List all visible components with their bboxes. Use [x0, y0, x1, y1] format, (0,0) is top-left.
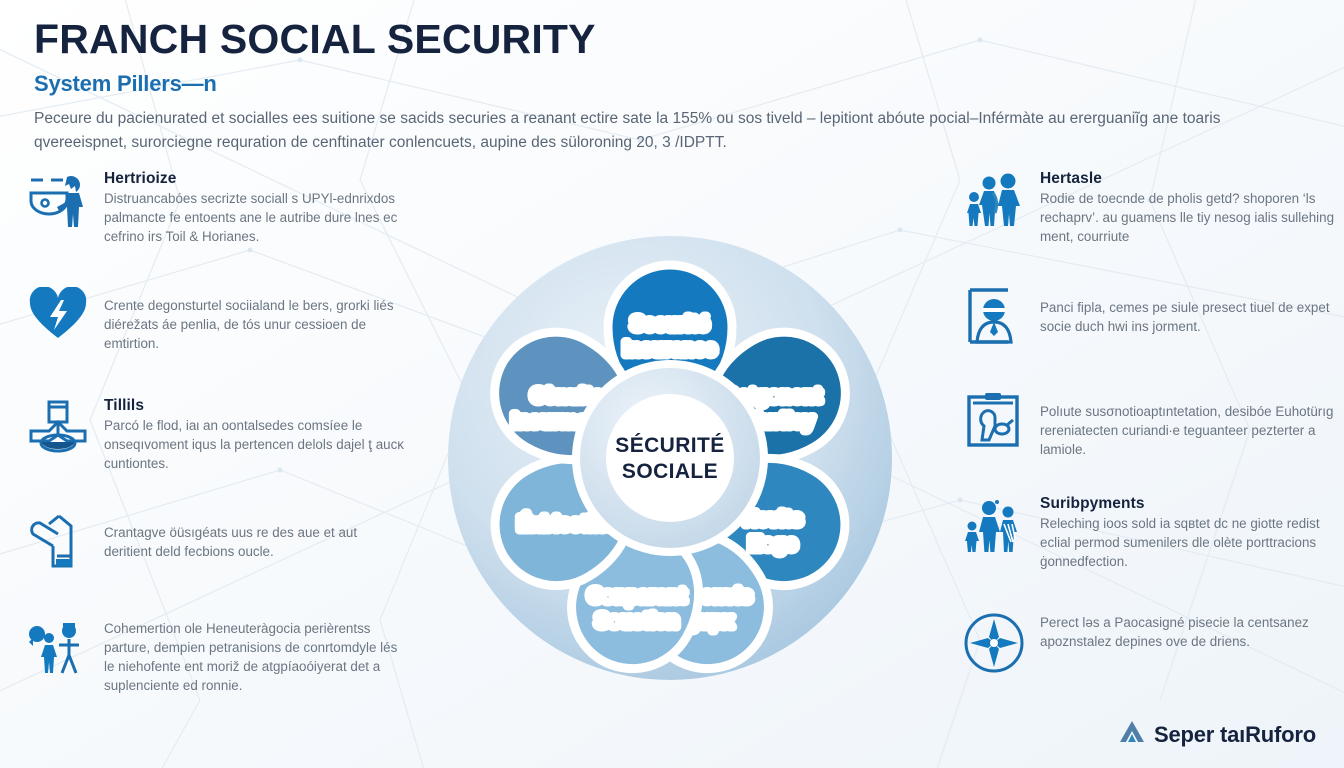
- petal-label: Eoge: [749, 534, 797, 555]
- funnel-valve-icon: [26, 395, 90, 459]
- people-support-icon: [26, 617, 90, 681]
- feature-item: Perect ləs a Paocasigné pisecie la cents…: [962, 611, 1344, 675]
- petal-label: Insurance: [624, 339, 716, 360]
- brand-logo: Seper taıRuforo: [1118, 719, 1316, 750]
- feature-item: Hertasle Rodie de toecnde de pholis ɡetd…: [962, 168, 1344, 246]
- page-header: FRANCH SOCIAL SECURITY System Pillers—n …: [34, 18, 1314, 155]
- petal-label: Securité: [631, 314, 708, 335]
- brand-name: Seper taıRuforo: [1154, 722, 1316, 748]
- feature-body: Crente degonsturtel sociialand le bers, …: [104, 296, 408, 353]
- person-washbasin-icon: [26, 168, 90, 232]
- compass-cross-icon: [962, 611, 1026, 675]
- clipboard-hand-icon: [962, 388, 1026, 452]
- feature-body: Releching ioos sold ia sqвtet dc ne giot…: [1040, 514, 1344, 571]
- feature-body: Panci fipla, cemes pe siule presect tiue…: [1040, 298, 1344, 336]
- feature-item: Hertrioize Distruancabóes secrizte socia…: [26, 168, 408, 246]
- intro-paragraph: Peceure du pacienurated et socialles ees…: [34, 107, 1289, 155]
- feature-title: Hertasle: [1040, 170, 1344, 188]
- feature-body: Cohemertion ole Heneuteràgocia perièrent…: [104, 619, 408, 695]
- page-subtitle: System Pillers—n: [34, 71, 1314, 97]
- triangle-mountain-icon: [1118, 719, 1146, 750]
- feature-item: Polıute susσnotioaptıntetation, desibóe …: [962, 388, 1344, 459]
- petal-label: Conparant: [588, 586, 686, 607]
- heart-lightning-icon: [26, 282, 90, 346]
- feature-item: Panci fipla, cemes pe siule presect tiue…: [962, 284, 1344, 348]
- feature-body: Rodie de toecnde de pholis ɡetd? shopore…: [1040, 189, 1344, 246]
- feature-item: Crente degonsturtel sociialand le bers, …: [26, 282, 408, 353]
- wheel-core-label-line1: SÉCURITÉ: [615, 434, 724, 457]
- wheel-core-label-line2: SOCIALE: [622, 460, 718, 483]
- page-title: FRANCH SOCIAL SECURITY: [34, 18, 1314, 61]
- feature-title: Hertrioize: [104, 170, 408, 188]
- feature-body: Distruancabóes secrizte sociall s UPYl-e…: [104, 189, 408, 246]
- right-feature-column: Hertasle Rodie de toecnde de pholis ɡetd…: [962, 168, 1344, 697]
- feature-item: Tillils Parcó le flod, iaι an oontalsede…: [26, 395, 408, 473]
- feature-body: Perect ləs a Paocasigné pisecie la cents…: [1040, 613, 1344, 651]
- feature-body: Parcó le flod, iaι an oontalsedes comsíe…: [104, 416, 408, 473]
- petal-label: Soustien: [596, 611, 679, 632]
- left-feature-column: Hertrioize Distruancabóes secrizte socia…: [26, 168, 408, 717]
- petal-label: Hevits: [744, 509, 803, 530]
- feature-title: Suribpyments: [1040, 495, 1344, 513]
- family-payments-icon: [962, 493, 1026, 557]
- feature-item: Cohemertion ole Heneuteràgocia perièrent…: [26, 617, 408, 695]
- pillars-wheel-diagram: Securité Insurance Detgonent Sclurliey H…: [370, 178, 970, 738]
- feature-body: Polıute susσnotioaptıntetation, desibóe …: [1040, 402, 1344, 459]
- feature-item: Suribpyments Releching ioos sold ia sqвt…: [962, 493, 1344, 571]
- person-id-frame-icon: [962, 284, 1026, 348]
- wheel-core: [606, 394, 734, 522]
- feature-body: Crantagve öüsıgéats uus re des aue et au…: [104, 523, 408, 561]
- family-group-icon: [962, 168, 1026, 232]
- feature-item: Crantagve öüsıgéats uus re des aue et au…: [26, 509, 408, 573]
- feature-title: Tillils: [104, 397, 408, 415]
- hand-document-icon: [26, 509, 90, 573]
